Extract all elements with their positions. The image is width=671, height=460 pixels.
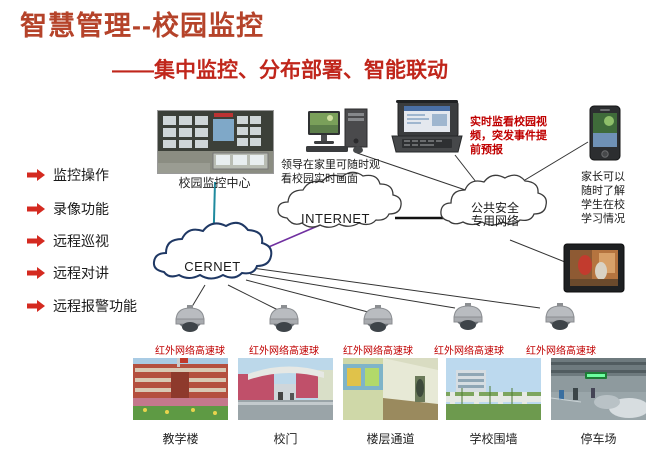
camera-label-1: 红外网络高速球 <box>234 342 334 357</box>
site-photo-4 <box>551 358 646 420</box>
school-wall-photo <box>446 358 541 420</box>
site-photo-3 <box>446 358 541 420</box>
site-caption-1: 校门 <box>238 430 333 447</box>
cernet-cloud-shape <box>154 223 271 279</box>
camera-3 <box>448 303 488 335</box>
camera-4 <box>540 303 580 335</box>
parking-lot-photo <box>551 358 646 420</box>
dome-camera-icon <box>540 303 580 335</box>
camera-label-2: 红外网络高速球 <box>328 342 428 357</box>
camera-label-3: 红外网络高速球 <box>419 342 519 357</box>
site-caption-3: 学校围墙 <box>446 430 541 447</box>
public-security-cloud-shape <box>441 175 546 225</box>
dome-camera-icon <box>358 305 398 337</box>
school-gate-photo <box>238 358 333 420</box>
site-caption-2: 楼层通道 <box>343 430 438 447</box>
camera-0 <box>170 305 210 337</box>
camera-label-0: 红外网络高速球 <box>140 342 240 357</box>
camera-label-4: 红外网络高速球 <box>511 342 611 357</box>
dome-camera-icon <box>264 305 304 337</box>
site-photo-0 <box>133 358 228 420</box>
note-realtime-alert: 实时监看校园视 频，突发事件提 前预报 <box>470 115 558 157</box>
site-caption-4: 停车场 <box>551 430 646 447</box>
site-caption-0: 教学楼 <box>133 430 228 447</box>
note-leader-remote-view: 领导在家里可随时观 看校园实时画面 <box>281 158 401 186</box>
site-photo-2 <box>343 358 438 420</box>
site-photo-1 <box>238 358 333 420</box>
dome-camera-icon <box>170 305 210 337</box>
dome-camera-icon <box>448 303 488 335</box>
floor-corridor-photo <box>343 358 438 420</box>
teaching-building-photo <box>133 358 228 420</box>
camera-1 <box>264 305 304 337</box>
camera-2 <box>358 305 398 337</box>
slide-canvas: 智慧管理--校园监控 ——集中监控、分布部署、智能联动 监控操作 <box>0 0 671 460</box>
note-parent-awareness: 家长可以 随时了解 学生在校 学习情况 <box>581 170 651 226</box>
